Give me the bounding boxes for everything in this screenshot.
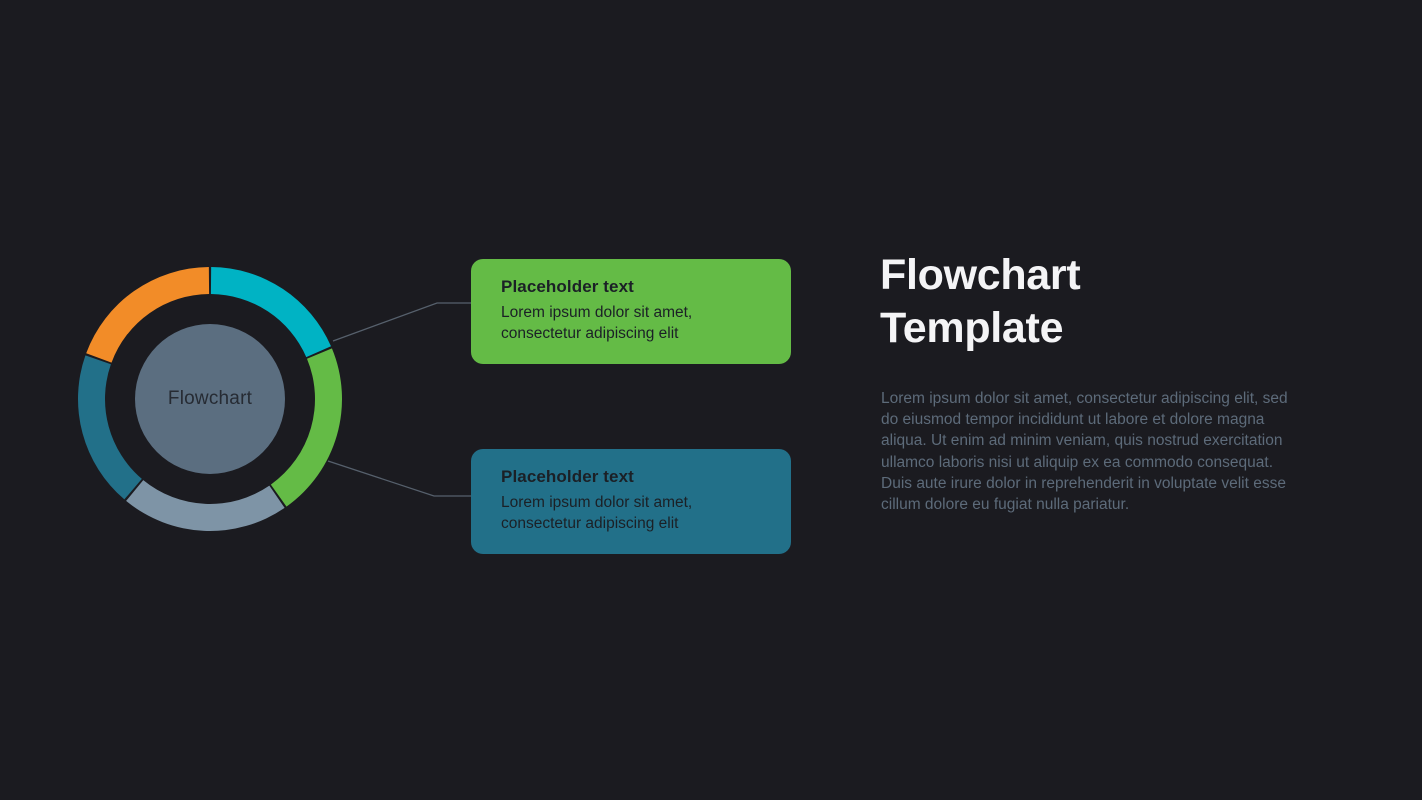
page-title-line-2: Template [880, 302, 1320, 355]
connector-line-bottom [328, 461, 471, 496]
callout-body: Lorem ipsum dolor sit amet, consectetur … [501, 492, 763, 534]
donut-chart-svg [78, 267, 342, 531]
callout-box-teal[interactable]: Placeholder text Lorem ipsum dolor sit a… [471, 449, 791, 554]
callout-title: Placeholder text [501, 277, 763, 297]
connector-line-top [333, 303, 471, 341]
callout-title: Placeholder text [501, 467, 763, 487]
page-title-line-1: Flowchart [880, 249, 1320, 302]
donut-inner-circle [135, 324, 285, 474]
slide-canvas: Flowchart Placeholder text Lorem ipsum d… [0, 0, 1422, 800]
callout-body: Lorem ipsum dolor sit amet, consectetur … [501, 302, 763, 344]
callout-box-green[interactable]: Placeholder text Lorem ipsum dolor sit a… [471, 259, 791, 364]
body-paragraph: Lorem ipsum dolor sit amet, consectetur … [881, 388, 1293, 515]
donut-segment-green[interactable] [271, 348, 342, 506]
page-title: Flowchart Template [880, 249, 1320, 355]
donut-segment-teal[interactable] [78, 355, 142, 499]
donut-segment-slate[interactable] [126, 480, 285, 531]
donut-chart: Flowchart [78, 267, 342, 531]
